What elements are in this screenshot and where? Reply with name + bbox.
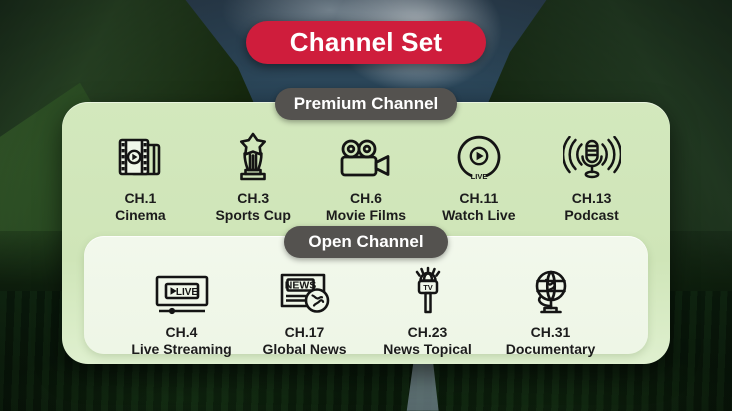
channel-name: Watch Live: [442, 207, 515, 224]
page-title: Channel Set: [290, 27, 442, 58]
channel-item-ch6[interactable]: CH.6 Movie Films: [310, 128, 423, 223]
channel-name: Live Streaming: [131, 341, 231, 358]
channel-name: Documentary: [506, 341, 595, 358]
channel-name: News Topical: [383, 341, 471, 358]
newspaper-globe-icon: NEWS: [277, 262, 333, 316]
channel-number: CH.17: [285, 324, 325, 341]
channel-item-ch1[interactable]: CH.1 Cinema: [84, 128, 197, 223]
channel-item-ch31[interactable]: CH.31 Documentary: [492, 262, 610, 357]
channel-number: CH.31: [531, 324, 571, 341]
screenshot-stage: Channel Set Premium Channel: [0, 0, 732, 411]
movie-camera-icon: [337, 128, 395, 182]
channel-name: Movie Films: [326, 207, 406, 224]
page-title-pill: Channel Set: [246, 21, 486, 64]
film-strip-icon: [115, 128, 165, 182]
channel-number: CH.11: [459, 190, 498, 207]
channel-name: Podcast: [564, 207, 618, 224]
section-header-premium: Premium Channel: [275, 88, 457, 120]
channel-number: CH.23: [408, 324, 448, 341]
desk-globe-icon: [526, 262, 576, 316]
channel-item-ch3[interactable]: CH.3 Sports Cup: [197, 128, 310, 223]
podcast-mic-icon: [563, 128, 621, 182]
reporter-mic-icon: TV: [404, 262, 452, 316]
tv-badge-text: TV: [423, 283, 433, 292]
channel-name: Sports Cup: [215, 207, 290, 224]
live-screen-icon: LIVE: [152, 262, 212, 316]
channel-item-ch13[interactable]: CH.13 Podcast: [535, 128, 648, 223]
channel-number: CH.3: [237, 190, 269, 207]
channel-name: Cinema: [115, 207, 166, 224]
channel-item-ch4[interactable]: LIVE CH.4 Live Streaming: [123, 262, 241, 357]
open-channel-row: LIVE CH.4 Live Streaming NEWS: [120, 262, 612, 357]
channel-name: Global News: [262, 341, 346, 358]
live-badge-text: LIVE: [470, 172, 487, 181]
channel-item-ch17[interactable]: NEWS CH.17 Global News: [246, 262, 364, 357]
channel-number: CH.4: [166, 324, 198, 341]
channel-item-ch23[interactable]: TV CH.23 News Topical: [369, 262, 487, 357]
premium-channel-row: CH.1 Cinema CH.3 Sports Cup: [84, 128, 648, 223]
channel-item-ch11[interactable]: LIVE CH.11 Watch Live: [422, 128, 535, 223]
section-header-open-label: Open Channel: [308, 232, 423, 252]
channel-number: CH.13: [572, 190, 612, 207]
section-header-premium-label: Premium Channel: [294, 94, 439, 114]
section-header-open: Open Channel: [284, 226, 448, 258]
channel-number: CH.6: [350, 190, 382, 207]
live-play-circle-icon: LIVE: [455, 128, 503, 182]
trophy-icon: [229, 128, 277, 182]
live-badge-text: LIVE: [175, 287, 198, 298]
channel-number: CH.1: [124, 190, 156, 207]
